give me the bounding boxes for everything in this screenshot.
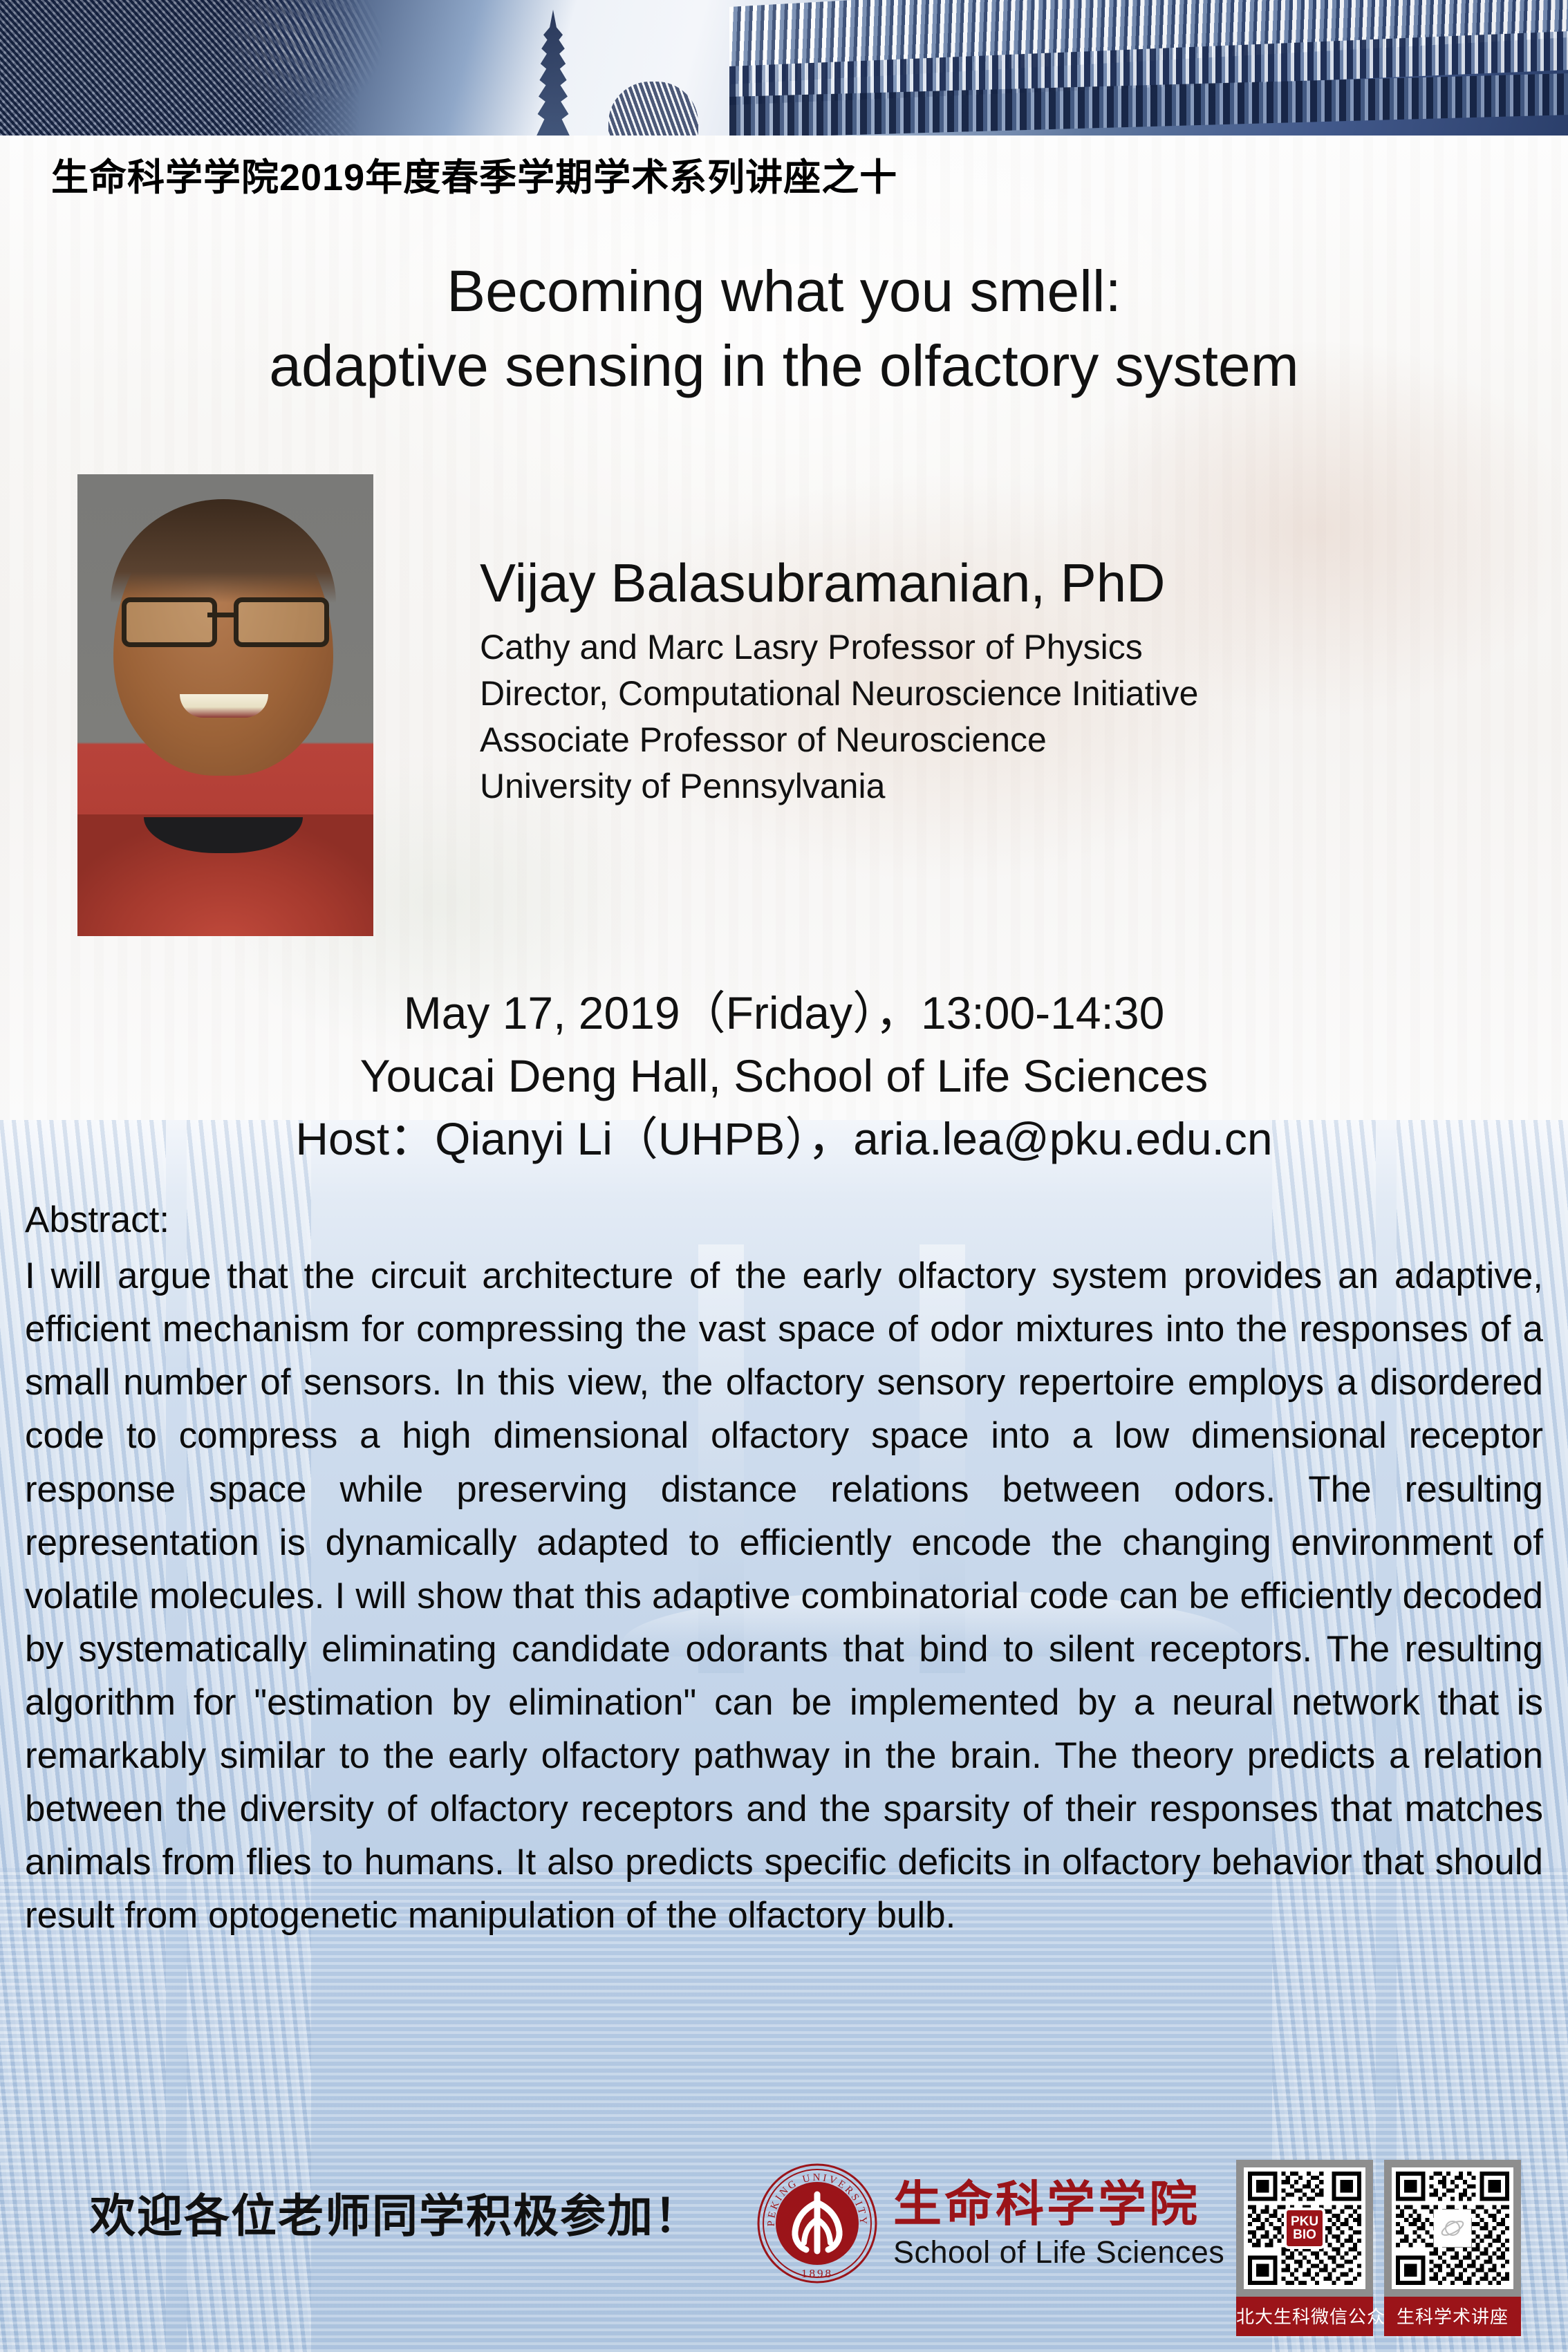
svg-text:1898: 1898 [801,2267,833,2280]
speaker-affiliations: Cathy and Marc Lasry Professor of Physic… [480,624,1503,810]
school-name-text: 生命科学学院 School of Life Sciences [893,2180,1224,2268]
header-banner-image [0,0,1568,136]
event-details-block: May 17, 2019（Friday），13:00-14:30 Youcai … [0,982,1568,1170]
speaker-portrait-photo [77,474,373,936]
qr-badge-line-1: PKU [1291,2215,1318,2228]
event-datetime: May 17, 2019（Friday），13:00-14:30 [0,982,1568,1045]
traditional-roof-icon [729,0,1568,136]
event-venue: Youcai Deng Hall, School of Life Science… [0,1045,1568,1108]
school-brand-lockup: PEKING UNIVERSITY 1898 生命科学学院 School of … [756,2163,1224,2284]
talk-title-line-2: adaptive sensing in the olfactory system [0,329,1568,404]
peking-university-seal-icon: PEKING UNIVERSITY 1898 [756,2163,878,2284]
qr-frame: PKU BIO [1236,2160,1373,2297]
portrait-hair [111,499,336,603]
lecture-series-line: 生命科学学院2019年度春季学期学术系列讲座之十 [51,147,897,201]
pku-bio-badge-icon: PKU BIO [1284,2208,1325,2249]
talk-title: Becoming what you smell: adaptive sensin… [0,254,1568,403]
qr-code-image-lecture [1392,2167,1513,2289]
school-name-cn: 生命科学学院 [893,2180,1224,2228]
portrait-glasses-icon [120,597,328,640]
qr-badge-line-2: BIO [1293,2228,1316,2241]
talk-title-line-1: Becoming what you smell: [0,254,1568,329]
speaker-info-block: Vijay Balasubramanian, PhD Cathy and Mar… [480,553,1503,810]
abstract-body: I will argue that the circuit architectu… [25,1249,1543,1942]
school-name-en: School of Life Sciences [893,2237,1224,2268]
welcome-note: 欢迎各位老师同学积极参加！ [90,2179,701,2246]
qr-card-wechat-official[interactable]: PKU BIO 北大生科微信公众号 [1236,2160,1373,2336]
qr-card-lecture-series[interactable]: 生科学术讲座 [1384,2160,1521,2336]
speaker-name: Vijay Balasubramanian, PhD [480,553,1503,613]
qr-frame [1384,2160,1521,2297]
qr-caption-wechat-official: 北大生科微信公众号 [1236,2297,1373,2336]
abstract-section: Abstract: I will argue that the circuit … [25,1193,1543,1943]
speaker-affiliation-1: Cathy and Marc Lasry Professor of Physic… [480,624,1503,671]
speaker-affiliation-3: Associate Professor of Neuroscience [480,717,1503,763]
speaker-affiliation-2: Director, Computational Neuroscience Ini… [480,671,1503,717]
portrait-smile [180,694,268,718]
abstract-label: Abstract: [25,1193,1543,1247]
seminar-poster: 生命科学学院2019年度春季学期学术系列讲座之十 Becoming what y… [0,0,1568,2352]
qr-code-group: PKU BIO 北大生科微信公众号 [1236,2160,1521,2336]
qr-code-image-wechat: PKU BIO [1244,2167,1365,2289]
speaker-affiliation-4: University of Pennsylvania [480,763,1503,810]
banner-tree-foliage-secondary-icon [228,0,408,136]
planet-badge-icon [1434,2210,1471,2247]
qr-caption-lecture-series: 生科学术讲座 [1384,2297,1521,2336]
event-host: Host：Qianyi Li（UHPB），aria.lea@pku.edu.cn [0,1108,1568,1170]
